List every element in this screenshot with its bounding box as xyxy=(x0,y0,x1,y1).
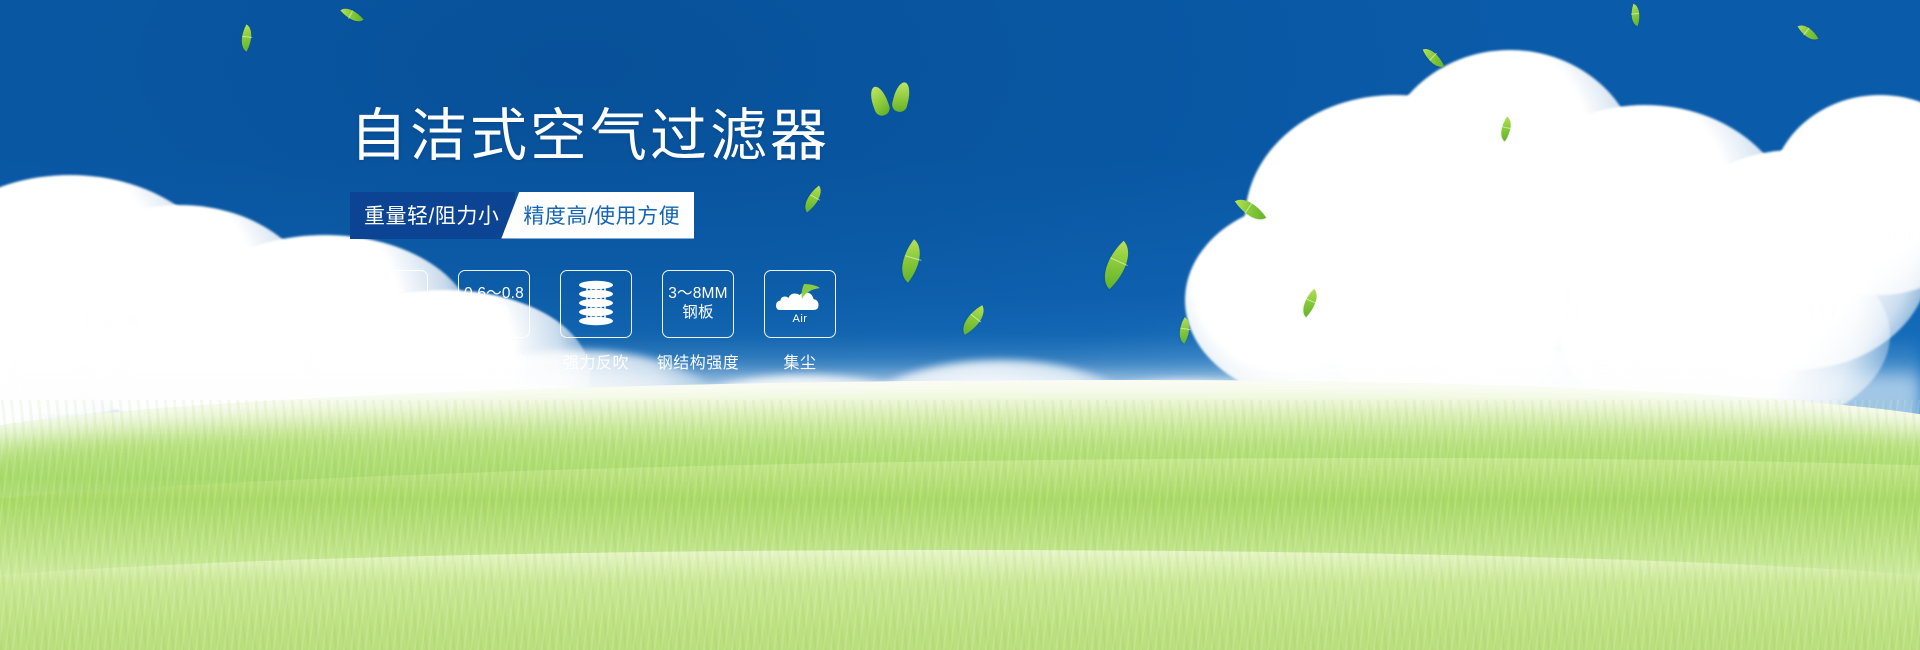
feature-box-control-gauge: NO OFF xyxy=(356,270,428,338)
feature-item-control-gauge[interactable]: NO OFF 控制仪 xyxy=(356,270,428,373)
title-leaf-icon xyxy=(870,82,918,116)
feature-box-dust: Air xyxy=(764,270,836,338)
pressure-value: 0.6～0.8 xyxy=(464,285,524,304)
tagline-left: 重量轻/阻力小 xyxy=(350,192,515,239)
title-row: 自洁式空气过滤器 xyxy=(350,104,970,170)
tagline-right: 精度高/使用方便 xyxy=(501,192,694,239)
feature-box-steel: 3～8MM 钢板 xyxy=(662,270,734,338)
title-leaf-right-icon xyxy=(891,81,913,114)
air-word-label: Air xyxy=(793,313,808,326)
title-leaf-left-icon xyxy=(867,84,891,117)
feature-label-backblow: 强力反吹 xyxy=(563,349,629,373)
product-hero-banner: 自洁式空气过滤器 重量轻/阻力小 精度高/使用方便 xyxy=(0,0,1920,650)
air-cloud-icon xyxy=(774,282,826,316)
feature-label-steel: 钢结构强度 xyxy=(657,349,740,373)
feature-item-dust[interactable]: Air 集尘 xyxy=(764,270,836,373)
steel-thickness: 3～8MM xyxy=(668,285,728,304)
gauge-label-no: NO xyxy=(369,302,379,309)
gauge-icon: NO OFF xyxy=(364,279,420,329)
filter-stack-icon xyxy=(572,278,620,330)
feature-label-control-gauge: 控制仪 xyxy=(367,349,417,373)
feature-item-steel[interactable]: 3～8MM 钢板 钢结构强度 xyxy=(662,270,734,373)
feature-label-pressure: 二级过滤 xyxy=(461,349,527,373)
steel-material: 钢板 xyxy=(682,304,713,323)
feature-label-dust: 集尘 xyxy=(783,349,816,373)
feature-box-backblow xyxy=(560,270,632,338)
gauge-label-off: OFF xyxy=(400,319,413,326)
feature-item-pressure[interactable]: 0.6～0.8 MPA 二级过滤 xyxy=(458,270,530,373)
feature-item-backblow[interactable]: 强力反吹 xyxy=(560,270,632,373)
feature-box-pressure: 0.6～0.8 MPA xyxy=(458,270,530,338)
tagline-bar: 重量轻/阻力小 精度高/使用方便 xyxy=(350,192,672,239)
banner-content: 自洁式空气过滤器 重量轻/阻力小 精度高/使用方便 xyxy=(350,104,970,239)
feature-list: NO OFF 控制仪 0.6～0.8 MPA 二级过滤 xyxy=(356,270,836,373)
pressure-unit: MPA xyxy=(477,304,510,323)
grass-field-near xyxy=(0,550,1920,650)
